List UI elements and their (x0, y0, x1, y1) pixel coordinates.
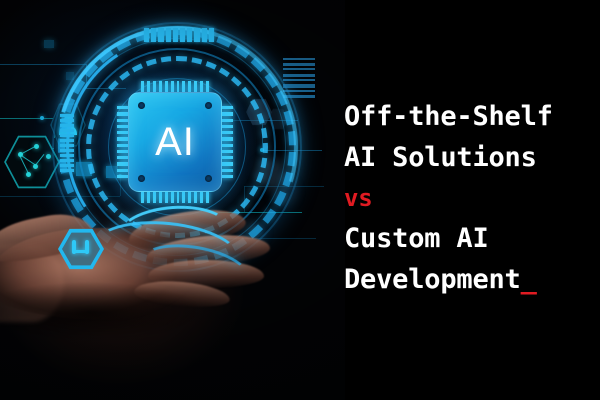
circuit-trace (0, 118, 54, 119)
hero-banner: AI Off-the-Shelf AI (0, 0, 600, 400)
chip-label: AI (129, 93, 221, 191)
typing-cursor: _ (521, 264, 537, 295)
headline-line-2: AI Solutions (344, 137, 594, 178)
headline-line-4: Custom AI (344, 218, 594, 259)
circuit-node (40, 116, 44, 120)
headline-block: Off-the-Shelf AI Solutions vs Custom AI … (344, 96, 594, 300)
chip-pins-bottom (141, 191, 209, 203)
hud-tick-column (60, 114, 74, 186)
headline-line-5-text: Development (344, 264, 521, 295)
hud-tick-row (144, 28, 214, 42)
headline-line-1: Off-the-Shelf (344, 96, 594, 137)
hand-shadow (0, 280, 298, 360)
microchip-icon: AI (128, 92, 222, 192)
headline-line-5: Development_ (344, 259, 594, 300)
chip-pins-right (221, 106, 233, 178)
ai-hologram-visual: AI (0, 0, 345, 400)
headline-vs: vs (344, 178, 594, 218)
chip-body: AI (128, 92, 222, 192)
